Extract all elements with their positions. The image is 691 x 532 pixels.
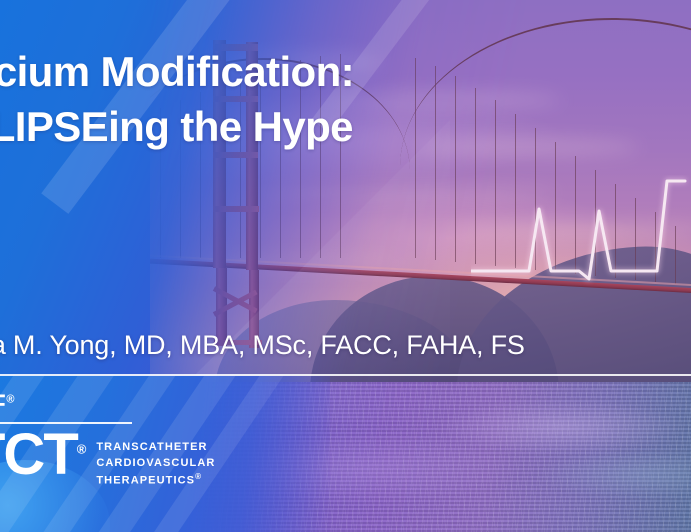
slide-title: alcium Modification: CLIPSEing the Hype [0,44,520,155]
registered-mark: ® [77,442,87,457]
tct-text: TCT [0,422,77,487]
tct-row: TCT® TRANSCATHETER CARDIOVASCULAR THERAP… [0,428,300,489]
tct-name-line-2: CARDIOVASCULAR [96,456,215,472]
crf-wordmark: RF® [0,392,300,417]
tct-name-line-3: THERAPEUTICS® [96,471,215,489]
registered-mark: ® [195,472,202,481]
title-line-1: alcium Modification: [0,44,520,99]
tct-name-line-1: TRANSCATHETER [96,440,215,456]
tct-wordmark: TCT® [0,428,86,481]
tct-name-line-3-text: THERAPEUTICS [96,475,195,487]
registered-mark: ® [6,394,15,406]
speaker-name-and-credentials: na M. Yong, MD, MBA, MSc, FACC, FAHA, FS [0,330,691,361]
presentation-title-slide: alcium Modification: CLIPSEing the Hype … [0,0,691,532]
tct-logo-lockup: RF® TCT® TRANSCATHETER CARDIOVASCULAR TH… [0,392,300,489]
tct-full-name: TRANSCATHETER CARDIOVASCULAR THERAPEUTIC… [96,428,215,489]
slide-content: alcium Modification: CLIPSEing the Hype … [0,0,691,532]
title-line-2: CLIPSEing the Hype [0,99,520,154]
horizontal-divider [0,374,691,376]
